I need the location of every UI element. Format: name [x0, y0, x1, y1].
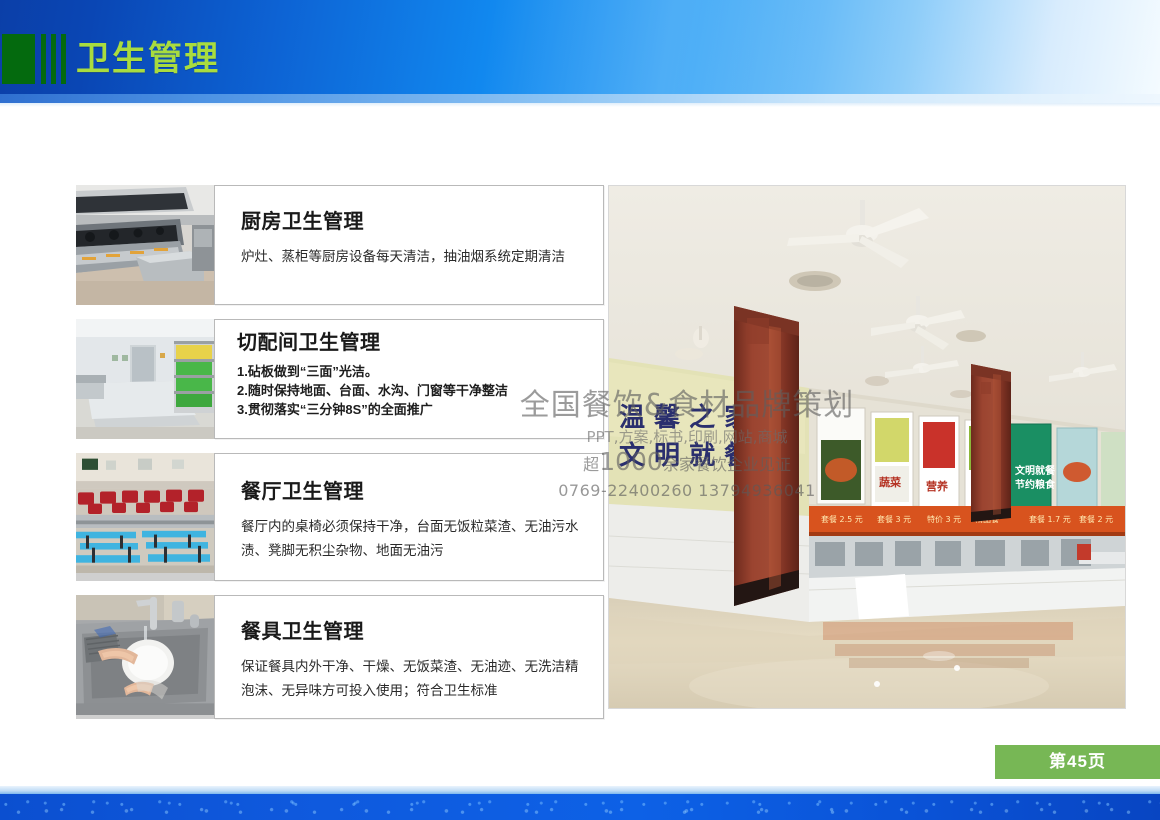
svg-text:套餐 2 元: 套餐 2 元 — [1079, 514, 1113, 524]
prep-room-photo — [76, 319, 214, 439]
hygiene-card-desc: 保证餐具内外干净、干燥、无饭菜渣、无油迹、无洗洁精泡沫、无异味方可投入使用；符合… — [241, 655, 587, 703]
hygiene-card-title: 厨房卫生管理 — [241, 208, 587, 236]
svg-text:文明就餐: 文明就餐 — [1015, 464, 1056, 477]
hygiene-card-list: 厨房卫生管理 炉灶、蒸柜等厨房设备每天清洁，抽油烟系统定期清洁 — [76, 185, 604, 733]
footer-light-strip — [0, 786, 1160, 794]
hygiene-card-line: 1.砧板做到“三面”光洁。 — [237, 362, 587, 381]
header-underline-fade — [0, 103, 1160, 107]
hygiene-card-list-lines: 1.砧板做到“三面”光洁。 2.随时保持地面、台面、水沟、门窗等干净整洁 3.贯… — [237, 362, 587, 419]
green-bars-logo — [2, 34, 64, 84]
svg-text:文 明 就 餐: 文 明 就 餐 — [619, 440, 751, 471]
hygiene-card[interactable]: 餐具卫生管理 保证餐具内外干净、干燥、无饭菜渣、无油迹、无洗洁精泡沫、无异味方可… — [76, 595, 604, 719]
canteen-interior-photo: 温 馨 之 家 共 文 明 就 餐 蔬菜 营养 水果 文明就餐 节约粮食 — [608, 185, 1126, 709]
svg-text:蔬菜: 蔬菜 — [879, 475, 902, 489]
hygiene-card-title: 餐具卫生管理 — [241, 618, 587, 646]
svg-text:套餐 1.7 元: 套餐 1.7 元 — [1029, 514, 1071, 524]
kitchen-stoves-photo — [76, 185, 214, 305]
hygiene-card-title: 餐厅卫生管理 — [241, 478, 587, 506]
hygiene-card[interactable]: 切配间卫生管理 1.砧板做到“三面”光洁。 2.随时保持地面、台面、水沟、门窗等… — [76, 319, 604, 439]
hygiene-card-desc: 炉灶、蒸柜等厨房设备每天清洁，抽油烟系统定期清洁 — [241, 245, 587, 269]
hygiene-card[interactable]: 厨房卫生管理 炉灶、蒸柜等厨房设备每天清洁，抽油烟系统定期清洁 — [76, 185, 604, 305]
svg-text:节约粮食: 节约粮食 — [1015, 478, 1056, 491]
hygiene-card-body: 切配间卫生管理 1.砧板做到“三面”光洁。 2.随时保持地面、台面、水沟、门窗等… — [214, 319, 604, 439]
page-footer — [0, 794, 1160, 820]
dishwashing-photo — [76, 595, 214, 719]
svg-text:特价 3 元: 特价 3 元 — [927, 514, 961, 524]
hygiene-card-body: 餐厅卫生管理 餐厅内的桌椅必须保持干净，台面无饭粒菜渣、无油污水渍、凳脚无积尘杂… — [214, 453, 604, 581]
hygiene-card-line: 3.贯彻落实“三分钟8S”的全面推广 — [237, 400, 587, 419]
dining-hall-photo — [76, 453, 214, 581]
hygiene-card-desc: 餐厅内的桌椅必须保持干净，台面无饭粒菜渣、无油污水渍、凳脚无积尘杂物、地面无油污 — [241, 515, 587, 563]
page-number-badge: 第45页 — [995, 745, 1160, 779]
logo-bar-icon-1 — [41, 34, 46, 84]
hygiene-card-title: 切配间卫生管理 — [237, 329, 587, 357]
header-underline — [0, 94, 1160, 103]
footer-texture — [0, 794, 1160, 820]
page-title: 卫生管理 — [76, 36, 220, 82]
svg-text:营养: 营养 — [926, 479, 949, 493]
hygiene-card-line: 2.随时保持地面、台面、水沟、门窗等干净整洁 — [237, 381, 587, 400]
hygiene-card-body: 餐具卫生管理 保证餐具内外干净、干燥、无饭菜渣、无油迹、无洗洁精泡沫、无异味方可… — [214, 595, 604, 719]
logo-block-icon — [2, 34, 35, 84]
hygiene-card-body: 厨房卫生管理 炉灶、蒸柜等厨房设备每天清洁，抽油烟系统定期清洁 — [214, 185, 604, 305]
svg-text:套餐 2.5 元: 套餐 2.5 元 — [821, 514, 863, 524]
logo-bar-icon-3 — [61, 34, 66, 84]
svg-text:套餐 3 元: 套餐 3 元 — [877, 514, 911, 524]
hygiene-card[interactable]: 餐厅卫生管理 餐厅内的桌椅必须保持干净，台面无饭粒菜渣、无油污水渍、凳脚无积尘杂… — [76, 453, 604, 581]
logo-bar-icon-2 — [51, 34, 56, 84]
